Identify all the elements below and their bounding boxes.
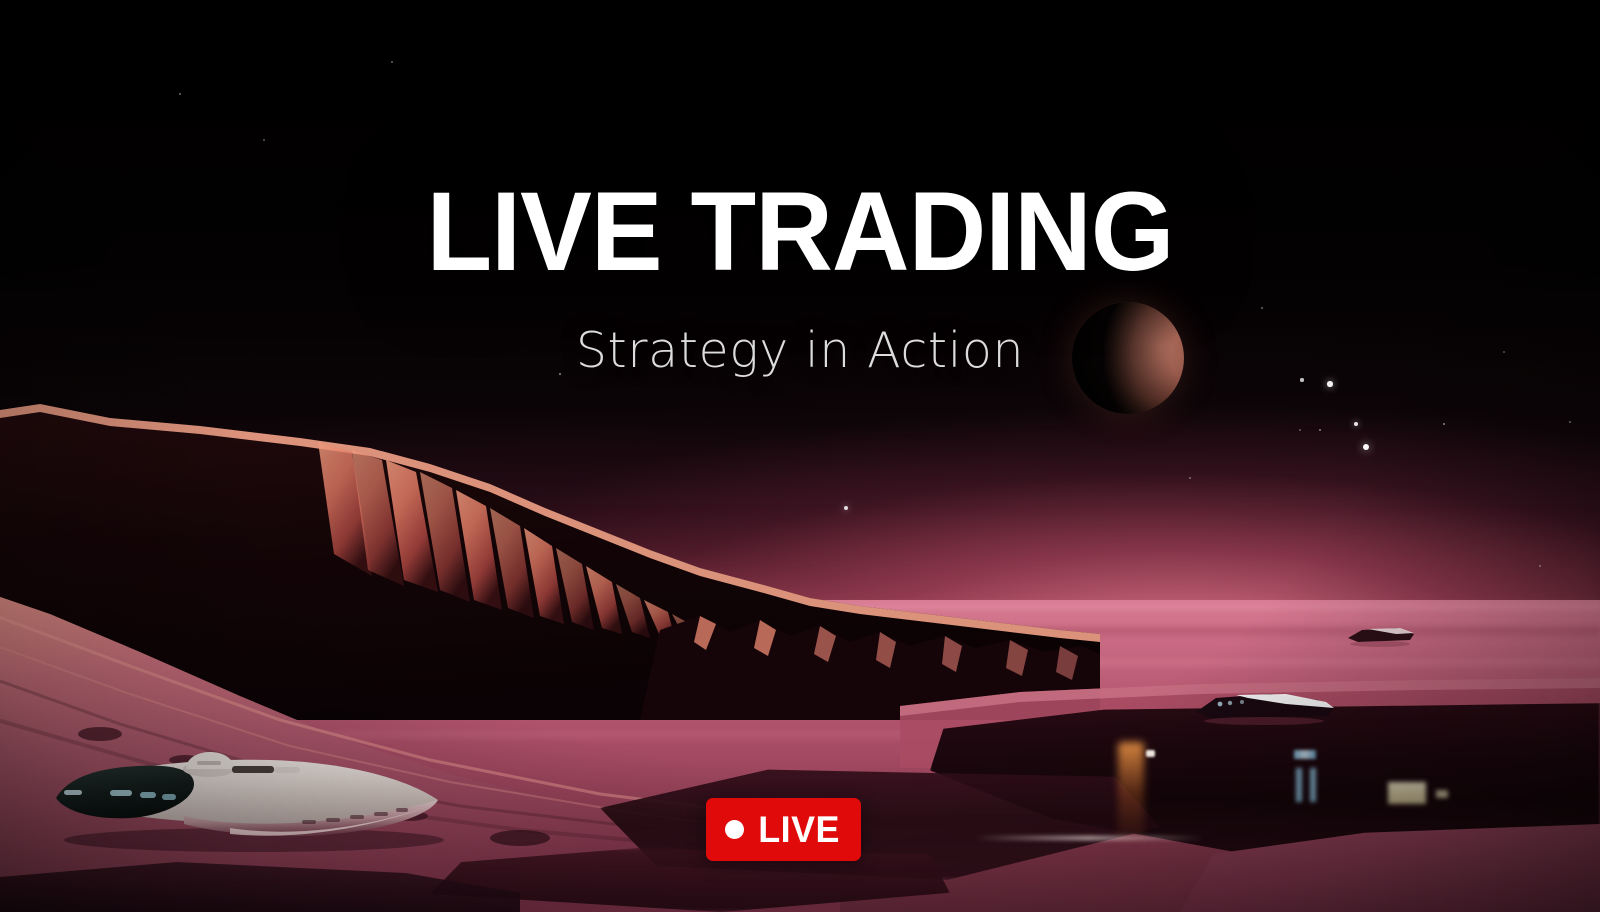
live-status-badge[interactable]: LIVE (706, 798, 861, 861)
distant-spacecraft-center (1190, 682, 1340, 726)
page-subtitle: Strategy in Action (0, 322, 1600, 380)
reflection-cyan-streak-b (1310, 768, 1316, 802)
distant-spacecraft-right (1340, 620, 1420, 648)
reflection-orange-streak (1118, 742, 1144, 846)
page-title: LIVE TRADING (32, 176, 1568, 288)
scene-canvas: LIVE TRADING Strategy in Action LIVE (0, 0, 1600, 912)
reflection-warm-dot (1436, 790, 1448, 798)
reflection-bright-edge (974, 836, 1204, 840)
live-dot-icon (725, 820, 744, 839)
live-badge-label: LIVE (759, 811, 841, 848)
reflection-white-dot (1146, 750, 1155, 757)
reflection-warm-window (1388, 782, 1426, 804)
star (1363, 444, 1369, 450)
star (1299, 429, 1301, 431)
star (1327, 381, 1332, 386)
star (263, 139, 265, 141)
reflection-cyan-band (1294, 750, 1316, 759)
foreground-spacecraft (34, 736, 454, 856)
reflection-cyan-streak-a (1296, 768, 1302, 802)
